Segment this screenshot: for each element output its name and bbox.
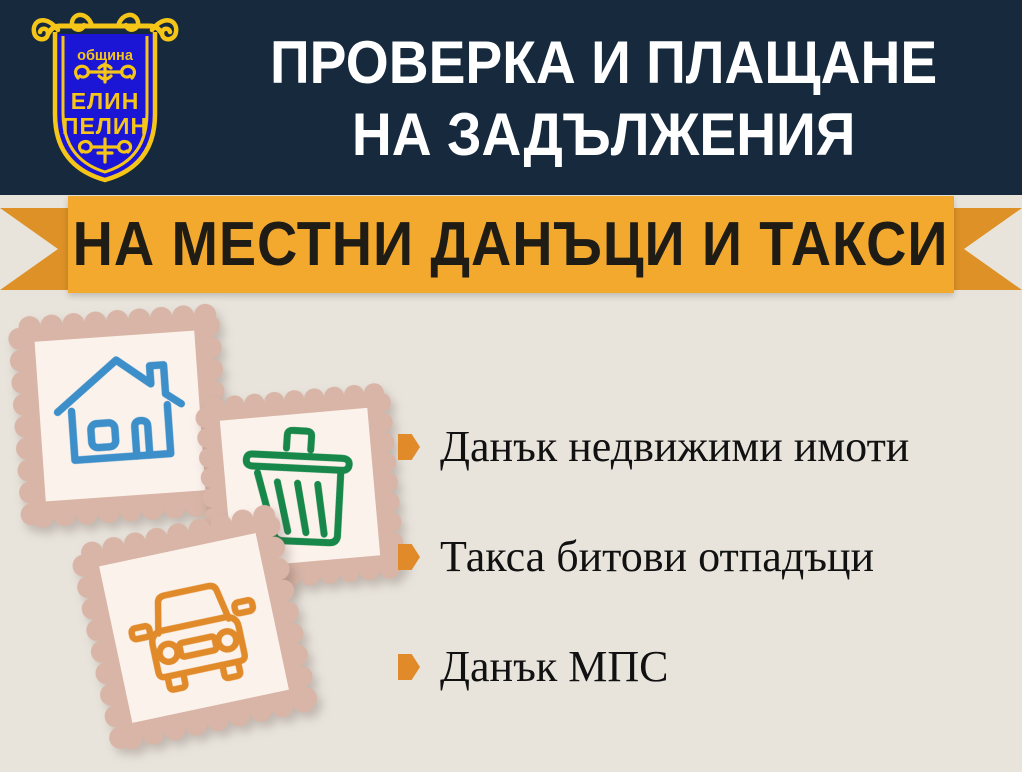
stamp-collage — [0, 300, 420, 772]
arrow-bullet-icon — [398, 654, 420, 680]
page-title-line-1: ПРОВЕРКА И ПЛАЩАНЕ — [270, 28, 937, 98]
list-item[interactable]: Данък МПС — [398, 638, 1018, 696]
arrow-bullet-icon — [398, 434, 420, 460]
header-title-block: ПРОВЕРКА И ПЛАЩАНЕ НА ЗАДЪЛЖЕНИЯ — [185, 0, 1022, 195]
list-item-label: Данък недвижими имоти — [440, 422, 909, 472]
list-item-label: Данък МПС — [440, 642, 668, 692]
header-banner: община ЕЛИН ПЕЛИН — [0, 0, 1022, 195]
ribbon-label: НА МЕСТНИ ДАНЪЦИ И ТАКСИ — [73, 213, 949, 277]
crest-line-2: ЕЛИН — [71, 88, 140, 114]
poster-canvas: община ЕЛИН ПЕЛИН — [0, 0, 1022, 772]
list-item-label: Такса битови отпадъци — [440, 532, 874, 582]
ribbon-body: НА МЕСТНИ ДАНЪЦИ И ТАКСИ — [68, 196, 954, 293]
tax-type-list: Данък недвижими имоти Такса битови отпад… — [398, 418, 1018, 696]
list-item[interactable]: Данък недвижими имоти — [398, 418, 1018, 476]
subtitle-ribbon: НА МЕСТНИ ДАНЪЦИ И ТАКСИ — [0, 196, 1022, 306]
page-title-line-2: НА ЗАДЪЛЖЕНИЯ — [352, 100, 856, 170]
crest-line-1: община — [77, 48, 134, 64]
stamp-border-vehicle — [68, 502, 319, 753]
list-item[interactable]: Такса битови отпадъци — [398, 528, 1018, 586]
stamp-card-vehicle — [68, 502, 319, 753]
arrow-bullet-icon — [398, 544, 420, 570]
coat-of-arms: община ЕЛИН ПЕЛИН — [30, 6, 180, 186]
crest-line-3: ПЕЛИН — [62, 113, 148, 139]
